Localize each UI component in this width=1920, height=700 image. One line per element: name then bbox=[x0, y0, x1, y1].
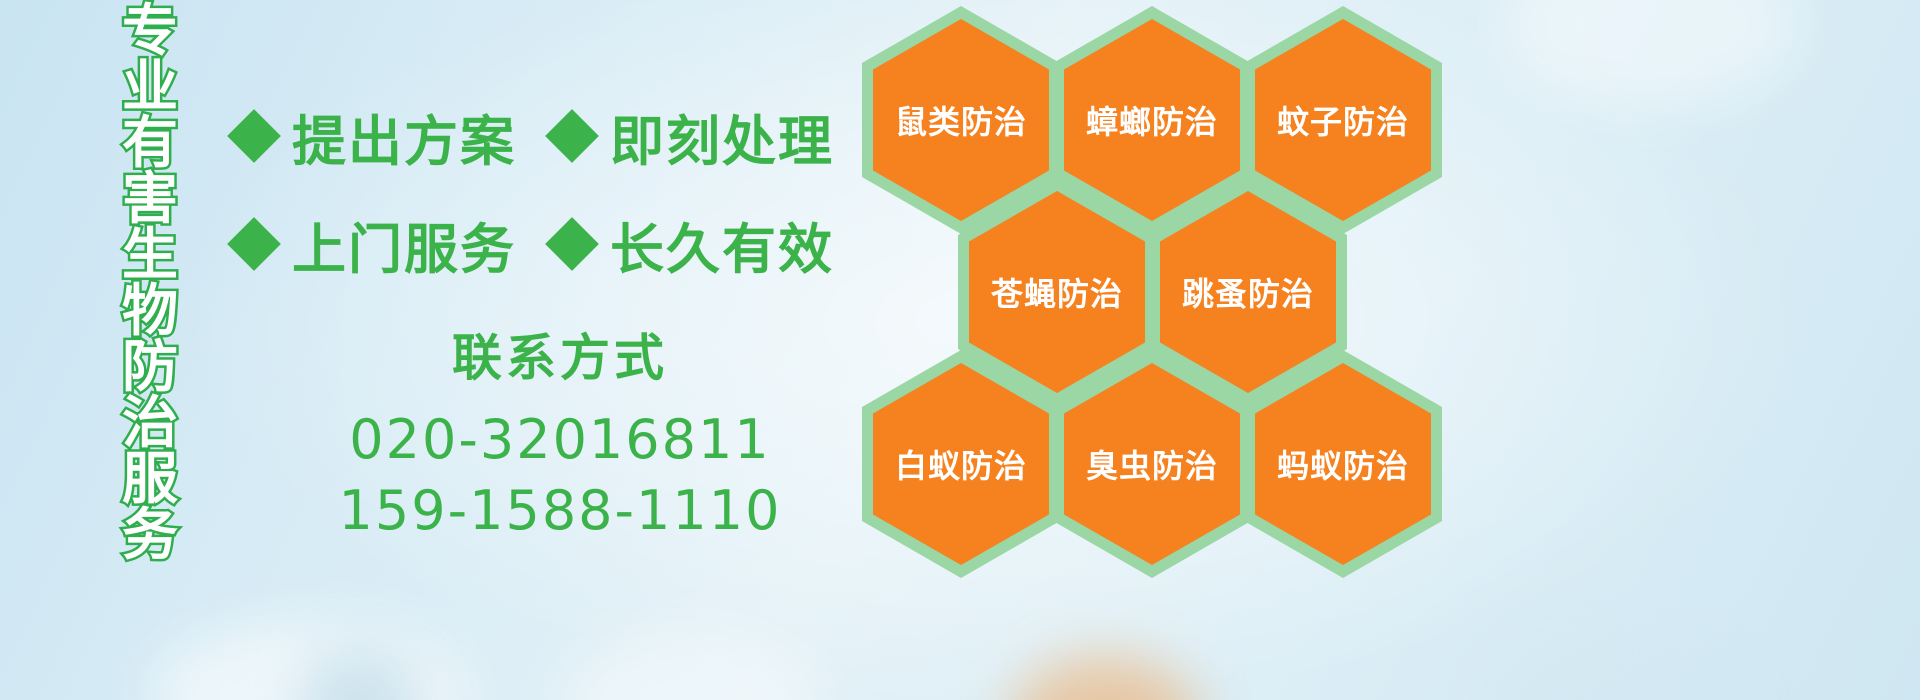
vertical-headline-char: 物 bbox=[122, 284, 178, 340]
vertical-headline-char: 害 bbox=[122, 172, 178, 228]
contact-block: 联系方式 020-32016811 159-1588-1110 bbox=[300, 318, 820, 547]
vertical-headline-char: 专 bbox=[122, 4, 178, 60]
feature-item: 长久有效 bbox=[546, 205, 834, 284]
vertical-headline-char: 防 bbox=[122, 340, 178, 396]
service-hex-ant[interactable]: 蚂蚁防治 bbox=[1244, 350, 1442, 578]
service-hex-bedbug[interactable]: 臭虫防治 bbox=[1053, 350, 1251, 578]
vertical-headline: 专 业 有 害 生 物 防 治 服 务 bbox=[104, 4, 196, 564]
background-blob bbox=[560, 630, 820, 700]
background-blob bbox=[1490, 640, 1750, 700]
diamond-icon bbox=[546, 110, 598, 162]
vertical-headline-char: 有 bbox=[122, 116, 178, 172]
vertical-headline-char: 服 bbox=[122, 452, 178, 508]
service-hex-label: 白蚁防治 bbox=[862, 350, 1060, 578]
feature-item: 即刻处理 bbox=[546, 97, 834, 176]
contact-title: 联系方式 bbox=[300, 318, 820, 390]
service-hex-label: 蚂蚁防治 bbox=[1244, 350, 1442, 578]
feature-label: 长久有效 bbox=[610, 205, 834, 284]
vertical-headline-char: 生 bbox=[122, 228, 178, 284]
feature-row: 上门服务 长久有效 bbox=[228, 190, 868, 298]
feature-item: 提出方案 bbox=[228, 97, 516, 176]
feature-label: 即刻处理 bbox=[610, 97, 834, 176]
vertical-headline-char: 治 bbox=[122, 396, 178, 452]
service-hex-label: 臭虫防治 bbox=[1053, 350, 1251, 578]
service-hex-termite[interactable]: 白蚁防治 bbox=[862, 350, 1060, 578]
contact-phone-landline[interactable]: 020-32016811 bbox=[300, 404, 820, 475]
background-blob bbox=[1010, 656, 1200, 700]
diamond-icon bbox=[228, 218, 280, 270]
vertical-headline-char: 业 bbox=[122, 60, 178, 116]
background-blob bbox=[1500, 0, 1800, 110]
vertical-headline-char: 务 bbox=[122, 508, 178, 564]
promo-banner: 专 业 有 害 生 物 防 治 服 务 提出方案 即刻处理 上门服务 bbox=[0, 0, 1920, 700]
background-blob bbox=[150, 620, 470, 700]
feature-row: 提出方案 即刻处理 bbox=[228, 82, 868, 190]
contact-phone-mobile[interactable]: 159-1588-1110 bbox=[300, 475, 820, 546]
background-blob bbox=[300, 650, 420, 700]
feature-label: 提出方案 bbox=[292, 97, 516, 176]
feature-item: 上门服务 bbox=[228, 205, 516, 284]
feature-label: 上门服务 bbox=[292, 205, 516, 284]
service-honeycomb: 鼠类防治 蟑螂防治 蚊子防治 苍蝇防治 跳蚤防治 白蚁防治 bbox=[862, 2, 1462, 562]
diamond-icon bbox=[228, 110, 280, 162]
feature-list: 提出方案 即刻处理 上门服务 长久有效 bbox=[228, 82, 868, 298]
diamond-icon bbox=[546, 218, 598, 270]
